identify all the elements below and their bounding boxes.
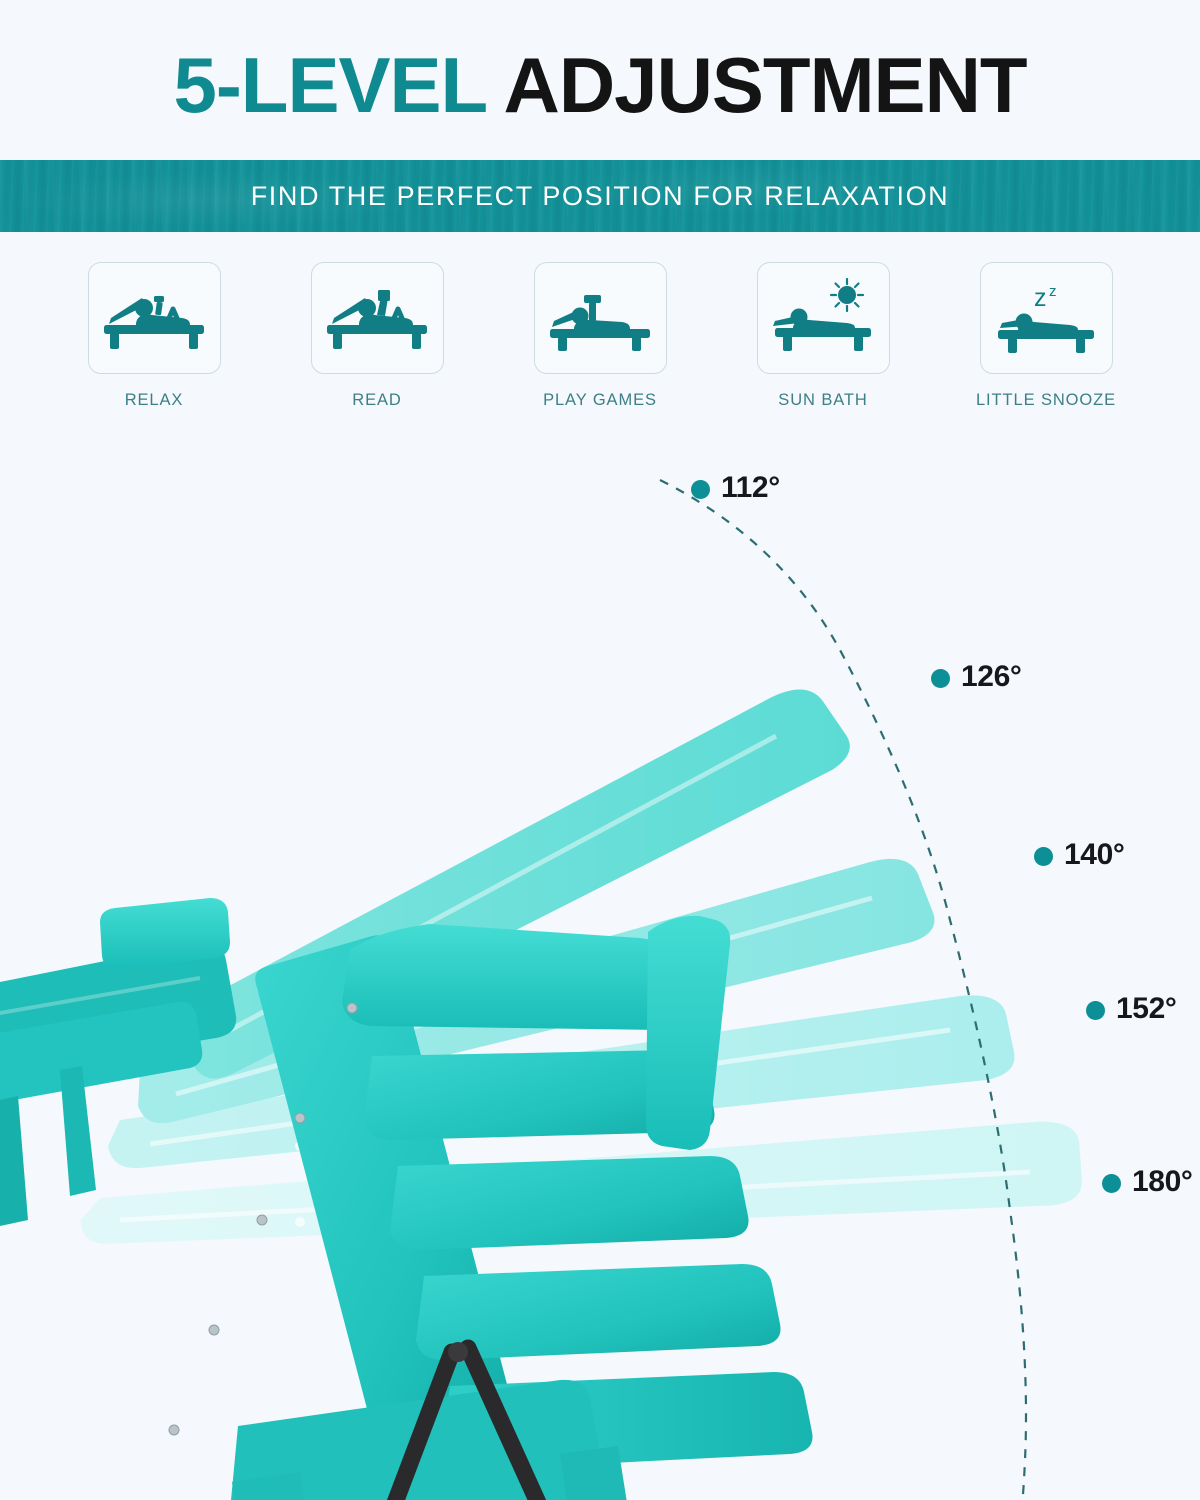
page-title: 5-LEVEL ADJUSTMENT: [0, 46, 1200, 124]
feature-label: LITTLE SNOOZE: [976, 391, 1116, 410]
feature-icon-box: [311, 262, 444, 374]
svg-text:z: z: [1034, 284, 1047, 312]
angle-label: 112°: [721, 471, 780, 505]
angle-label: 152°: [1116, 992, 1176, 1026]
feature-item-relax[interactable]: RELAX: [78, 262, 230, 412]
angle-dot: [1086, 1001, 1105, 1020]
feature-label: PLAY GAMES: [543, 391, 657, 410]
person-sleeping-zzz-icon: z z: [990, 278, 1102, 358]
feature-label: RELAX: [125, 391, 184, 410]
person-holding-phone-icon: [544, 285, 656, 351]
angle-label: 126°: [961, 660, 1021, 694]
chaise-lounge-chair-diagram: [0, 430, 1200, 1500]
person-reclining-with-drink-icon: [98, 285, 210, 351]
feature-item-read[interactable]: READ: [301, 262, 453, 412]
feature-icon-row: RELAX READ: [78, 262, 1122, 412]
angle-dot: [1102, 1174, 1121, 1193]
feature-icon-box: z z: [980, 262, 1113, 374]
feature-item-sun-bath[interactable]: SUN BATH: [747, 262, 899, 412]
feature-label: SUN BATH: [778, 391, 867, 410]
feature-icon-box: [757, 262, 890, 374]
angle-label: 180°: [1132, 1165, 1192, 1199]
feature-icon-box: [88, 262, 221, 374]
feature-item-little-snooze[interactable]: z z LITTLE SNOOZE: [970, 262, 1122, 412]
subtitle-text: FIND THE PERFECT POSITION FOR RELAXATION: [251, 181, 950, 212]
feature-icon-box: [534, 262, 667, 374]
person-sunbathing-with-sun-icon: [767, 278, 879, 358]
angle-label: 140°: [1064, 838, 1124, 872]
subtitle-banner: FIND THE PERFECT POSITION FOR RELAXATION: [0, 160, 1200, 232]
page-title-highlight: 5-LEVEL: [173, 41, 485, 129]
angle-dot: [691, 480, 710, 499]
feature-item-play-games[interactable]: PLAY GAMES: [524, 262, 676, 412]
person-reading-book-icon: [321, 285, 433, 351]
svg-text:z: z: [1049, 283, 1057, 300]
angle-dot: [931, 669, 950, 688]
feature-label: READ: [352, 391, 401, 410]
page-title-rest: ADJUSTMENT: [486, 41, 1027, 129]
angle-dot: [1034, 847, 1053, 866]
product-illustration: [0, 430, 1200, 1500]
